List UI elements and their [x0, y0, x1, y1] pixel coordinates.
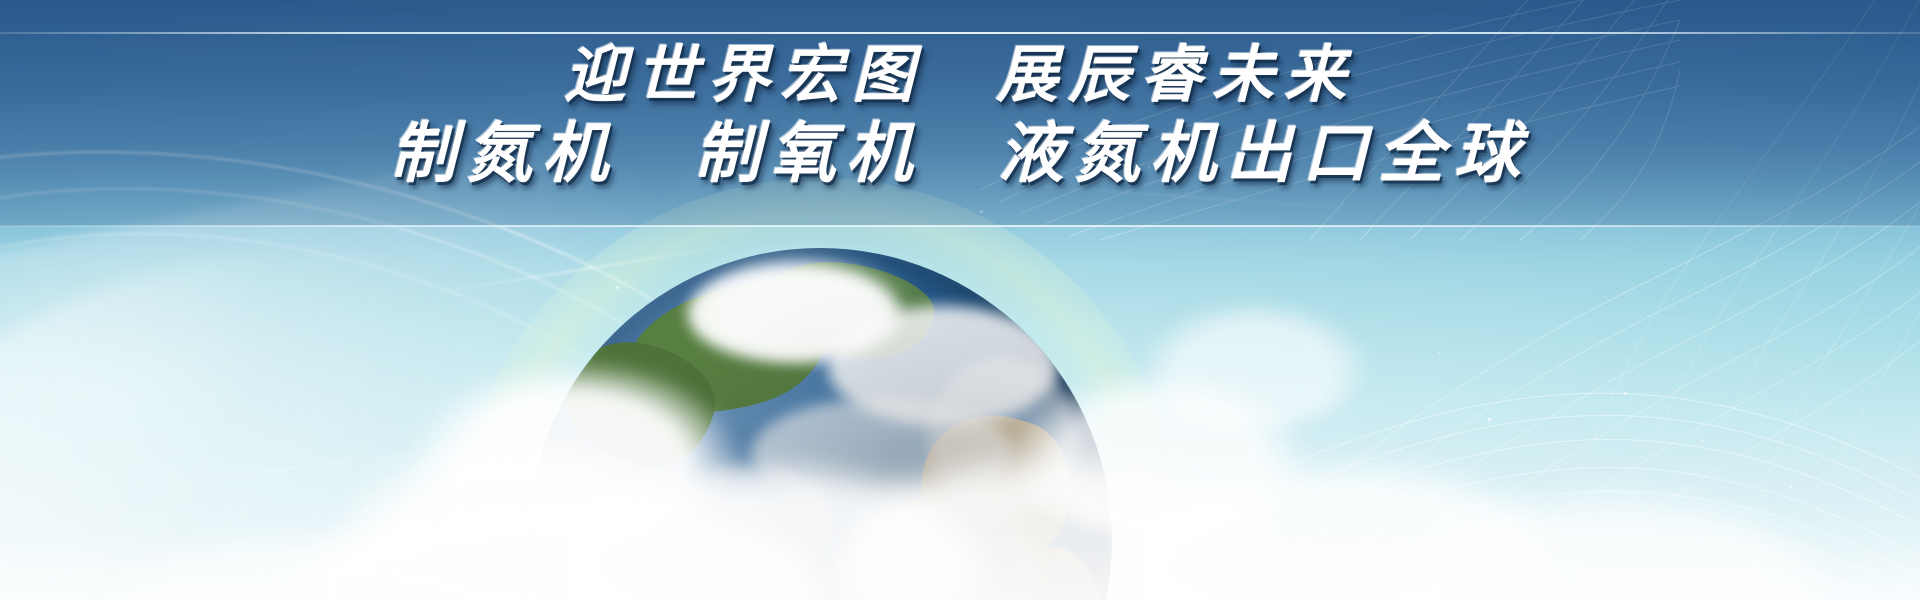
sparkle-dot	[1438, 352, 1440, 354]
sparkle-dot	[1702, 440, 1704, 442]
headline-line-2: 制氮机 制氧机 液氮机出口全球	[0, 120, 1920, 186]
sparkle-dot	[1624, 392, 1627, 395]
sparkle-dot	[1790, 486, 1793, 489]
horizontal-rule-top	[0, 32, 1920, 34]
horizontal-rule-bottom	[0, 225, 1920, 227]
sparkle-dot	[1488, 418, 1491, 421]
cloud-bank	[690, 250, 910, 360]
sparkle-dot	[1556, 466, 1558, 468]
headline-block: 迎世界宏图 展辰睿未来 制氮机 制氧机 液氮机出口全球	[0, 44, 1920, 186]
banner-stage: 迎世界宏图 展辰睿未来 制氮机 制氧机 液氮机出口全球	[0, 0, 1920, 600]
cloud-bank	[1140, 300, 1370, 430]
headline-line-1: 迎世界宏图 展辰睿未来	[0, 44, 1920, 106]
bottom-fade	[0, 530, 1920, 600]
